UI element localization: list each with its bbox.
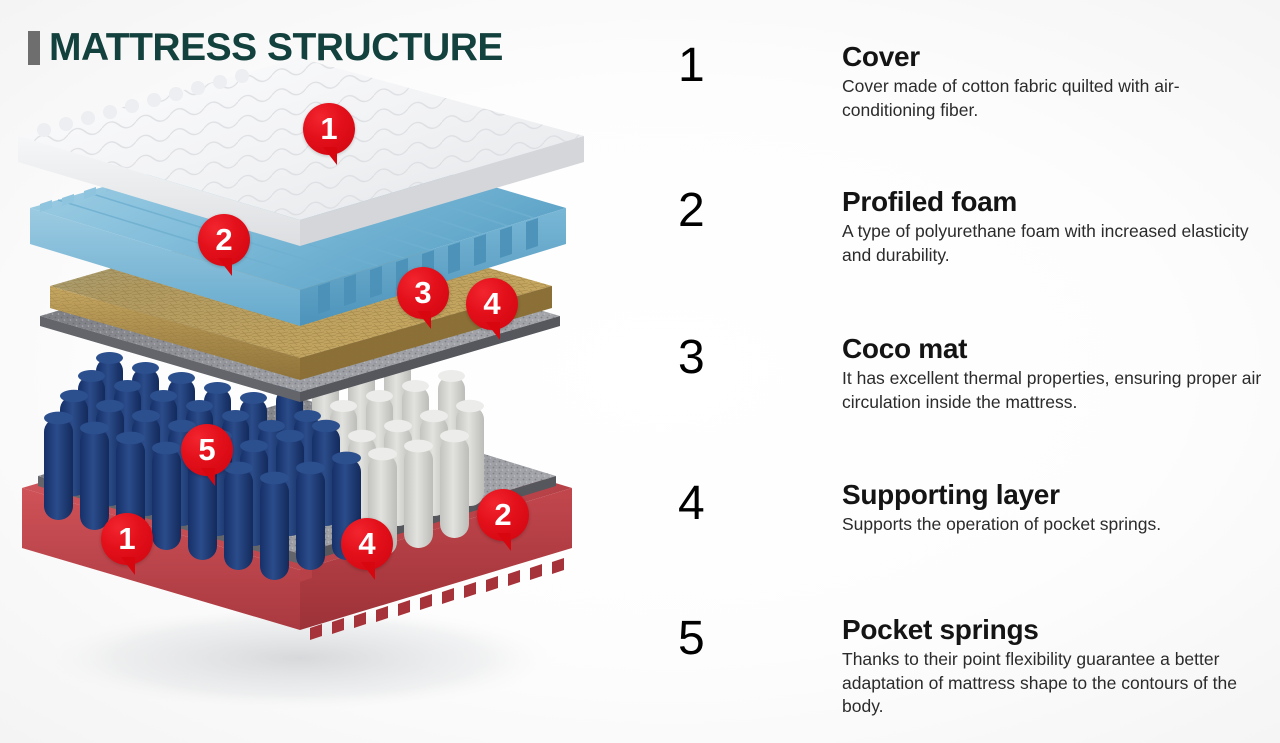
legend-title: Pocket springs: [842, 615, 1268, 644]
legend-pin-bulb: 2: [678, 183, 760, 265]
callout-number: 5: [198, 434, 215, 465]
legend-pin-1[interactable]: 1: [678, 38, 762, 150]
callout-pin-base-foam[interactable]: 1: [101, 513, 153, 565]
legend-item-cover[interactable]: 1 Cover Cover made of cotton fabric quil…: [678, 38, 1262, 150]
legend-pin-5[interactable]: 5: [678, 611, 762, 723]
legend-item-coco-mat[interactable]: 3 Coco mat It has excellent thermal prop…: [678, 330, 1262, 442]
legend-text-block: Coco mat It has excellent thermal proper…: [842, 334, 1262, 414]
legend-title: Profiled foam: [842, 187, 1262, 216]
callout-number: 2: [494, 499, 511, 530]
legend-title: Coco mat: [842, 334, 1262, 363]
callout-pin-tail: [323, 147, 337, 165]
legend-pin-bulb: 4: [678, 476, 760, 558]
callout-pin-springs-grey[interactable]: 2: [477, 489, 529, 541]
legend-text-block: Cover Cover made of cotton fabric quilte…: [842, 42, 1262, 122]
legend-description: Supports the operation of pocket springs…: [842, 513, 1161, 536]
legend-item-pocket-springs[interactable]: 5 Pocket springs Thanks to their point f…: [678, 611, 1268, 723]
legend-pin-4[interactable]: 4: [678, 476, 762, 588]
callout-pin-tail: [361, 562, 375, 580]
infographic-canvas: MATTRESS STRUCTURE: [0, 0, 1280, 743]
callout-pin-cover[interactable]: 1: [303, 103, 355, 155]
callout-pin-felt-lower[interactable]: 4: [341, 518, 393, 570]
mattress-illustration: 1 2 3 4 5 2 4 1: [0, 58, 640, 728]
legend-item-supporting-layer[interactable]: 4 Supporting layer Supports the operatio…: [678, 476, 1161, 588]
legend-description: It has excellent thermal properties, ens…: [842, 367, 1262, 414]
legend-pin-3[interactable]: 3: [678, 330, 762, 442]
callout-pin-tail: [218, 258, 232, 276]
callout-pin-pocket-springs[interactable]: 5: [181, 424, 233, 476]
legend-text-block: Profiled foam A type of polyurethane foa…: [842, 187, 1262, 267]
legend-description: Cover made of cotton fabric quilted with…: [842, 75, 1262, 122]
legend-text-block: Supporting layer Supports the operation …: [842, 480, 1161, 537]
legend-list: 1 Cover Cover made of cotton fabric quil…: [668, 18, 1268, 738]
callout-number: 2: [215, 224, 232, 255]
legend-description: Thanks to their point flexibility guaran…: [842, 648, 1268, 718]
callout-pin-profiled-foam[interactable]: 2: [198, 214, 250, 266]
mattress-layers-svg: [0, 58, 640, 728]
legend-title: Supporting layer: [842, 480, 1161, 509]
legend-pin-2[interactable]: 2: [678, 183, 762, 295]
legend-text-block: Pocket springs Thanks to their point fle…: [842, 615, 1268, 718]
legend-pin-number: 3: [678, 331, 705, 384]
callout-number: 1: [118, 523, 135, 554]
legend-pin-number: 1: [678, 39, 705, 92]
callout-number: 4: [483, 288, 500, 319]
legend-pin-bulb: 3: [678, 330, 760, 412]
legend-description: A type of polyurethane foam with increas…: [842, 220, 1262, 267]
callout-number: 3: [414, 277, 431, 308]
callout-pin-tail: [486, 322, 500, 340]
callout-pin-supporting-layer[interactable]: 4: [466, 278, 518, 330]
callout-pin-tail: [121, 557, 135, 575]
legend-item-profiled-foam[interactable]: 2 Profiled foam A type of polyurethane f…: [678, 183, 1262, 295]
callout-number: 4: [358, 528, 375, 559]
legend-title: Cover: [842, 42, 1262, 71]
callout-number: 1: [320, 113, 337, 144]
callout-pin-coco-mat[interactable]: 3: [397, 267, 449, 319]
legend-pin-number: 4: [678, 477, 705, 530]
legend-pin-bulb: 1: [678, 38, 760, 120]
callout-pin-tail: [201, 468, 215, 486]
callout-pin-tail: [497, 533, 511, 551]
legend-pin-bulb: 5: [678, 611, 760, 693]
callout-pin-tail: [417, 311, 431, 329]
legend-pin-number: 2: [678, 184, 705, 237]
legend-pin-number: 5: [678, 612, 705, 665]
